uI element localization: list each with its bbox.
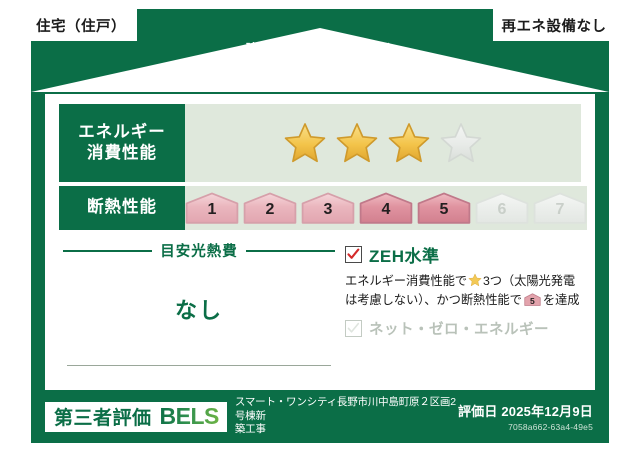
grade-badge: 7 <box>533 192 587 224</box>
insulation-label-text: 断熱性能 <box>87 197 157 218</box>
cost-rule-right <box>246 250 335 252</box>
project-name: スマート・ワンシティ長野市川中島町原２区画2号棟新 築工事 <box>235 396 458 438</box>
grade-badge-value: 3 <box>324 202 333 224</box>
bels-wordmark: BELS <box>160 403 219 430</box>
zeh-block: ZEH水準 エネルギー消費性能で 3つ（太陽光発電 は考慮しない）、かつ断熱性能… <box>345 242 583 339</box>
main-card: エネルギー 消費性能 断熱性能 1234567 目安光熱費 なし <box>45 94 595 390</box>
grade-badge-value: 6 <box>498 202 507 224</box>
net-zero-energy-row: ネット・ゼロ・エネルギー <box>345 318 583 339</box>
cost-value: なし <box>63 293 335 325</box>
star-rating <box>185 104 581 182</box>
footer-bar: 第三者評価 BELS スマート・ワンシティ長野市川中島町原２区画2号棟新 築工事… <box>45 394 595 439</box>
estimated-utility-cost-block: 目安光熱費 なし <box>63 240 335 374</box>
grade-badge-value: 4 <box>382 202 391 224</box>
grade-badge-value: 1 <box>208 202 217 224</box>
grade-badge: 3 <box>301 192 355 224</box>
net-zero-checkbox[interactable] <box>345 320 362 337</box>
zeh-desc-part2: は考慮しない）、かつ断熱性能で <box>345 293 522 307</box>
grade-badge: 6 <box>475 192 529 224</box>
grade-badge: 2 <box>243 192 297 224</box>
building-type-tab: 住宅（住戸） <box>25 9 137 41</box>
evaluation-info: 評価日 2025年12月9日 7058a662-63a4-49e5 <box>458 401 595 432</box>
header-title-block: 建築物省エネ法に基づく 省エネ性能ラベル <box>0 42 640 88</box>
evaluation-id: 7058a662-63a4-49e5 <box>458 422 593 432</box>
zeh-checkbox[interactable] <box>345 246 362 263</box>
evaluation-date: 評価日 2025年12月9日 <box>458 401 593 420</box>
zeh-desc-stars: 3つ（太陽光発電 <box>483 274 575 288</box>
third-party-evaluation-label: 第三者評価 <box>54 403 152 430</box>
inline-grade-badge: 5 <box>524 293 541 306</box>
label-subtitle: 建築物省エネ法に基づく <box>0 42 640 57</box>
energy-label-line2: 消費性能 <box>87 143 157 164</box>
star-filled-icon <box>386 121 432 165</box>
cost-bottom-divider <box>67 365 331 367</box>
grade-badge: 4 <box>359 192 413 224</box>
renewable-equipment-tab: 再エネ設備なし <box>493 9 615 41</box>
zeh-title: ZEH水準 <box>369 242 440 267</box>
checkmark-icon <box>347 248 360 261</box>
project-name-line1: スマート・ワンシティ長野市川中島町原２区画2号棟新 <box>235 396 458 424</box>
cost-rule-left <box>63 250 152 252</box>
cost-heading-row: 目安光熱費 <box>63 240 335 261</box>
cost-heading: 目安光熱費 <box>160 240 238 261</box>
grade-badges: 1234567 <box>185 192 587 224</box>
zeh-desc-part3: を達成 <box>543 293 580 307</box>
grade-badge: 1 <box>185 192 239 224</box>
inline-grade-value: 5 <box>524 296 541 306</box>
grade-badge-value: 2 <box>266 202 275 224</box>
evaluation-date-value: 2025年12月9日 <box>501 404 593 419</box>
bels-badge: 第三者評価 BELS <box>45 402 227 432</box>
zeh-title-row: ZEH水準 <box>345 242 583 267</box>
insulation-performance-label: 断熱性能 <box>59 186 185 230</box>
grade-badge: 5 <box>417 192 471 224</box>
evaluation-date-label: 評価日 <box>458 404 498 419</box>
project-name-line2: 築工事 <box>235 423 458 437</box>
grade-badge-value: 5 <box>440 202 449 224</box>
net-zero-label: ネット・ゼロ・エネルギー <box>369 318 549 339</box>
energy-performance-row: エネルギー 消費性能 <box>59 104 581 182</box>
zeh-description: エネルギー消費性能で 3つ（太陽光発電 は考慮しない）、かつ断熱性能で 5 を達… <box>345 272 583 309</box>
insulation-performance-row: 断熱性能 1234567 <box>59 186 581 230</box>
energy-performance-label: 住宅（住戸） 再エネ設備なし 建築物省エネ法に基づく 省エネ性能ラベル エネルギ… <box>0 0 640 452</box>
star-filled-icon <box>334 121 380 165</box>
grade-badge-value: 7 <box>556 202 565 224</box>
energy-performance-label: エネルギー 消費性能 <box>59 104 185 182</box>
energy-label-line1: エネルギー <box>78 122 166 143</box>
star-empty-icon <box>438 121 484 165</box>
label-title: 省エネ性能ラベル <box>0 60 640 88</box>
star-filled-icon <box>282 121 328 165</box>
checkmark-icon-faded <box>347 322 360 335</box>
insulation-grade-scale: 1234567 <box>185 186 587 230</box>
zeh-desc-part1: エネルギー消費性能で <box>345 274 467 288</box>
inline-star-icon <box>468 273 482 287</box>
